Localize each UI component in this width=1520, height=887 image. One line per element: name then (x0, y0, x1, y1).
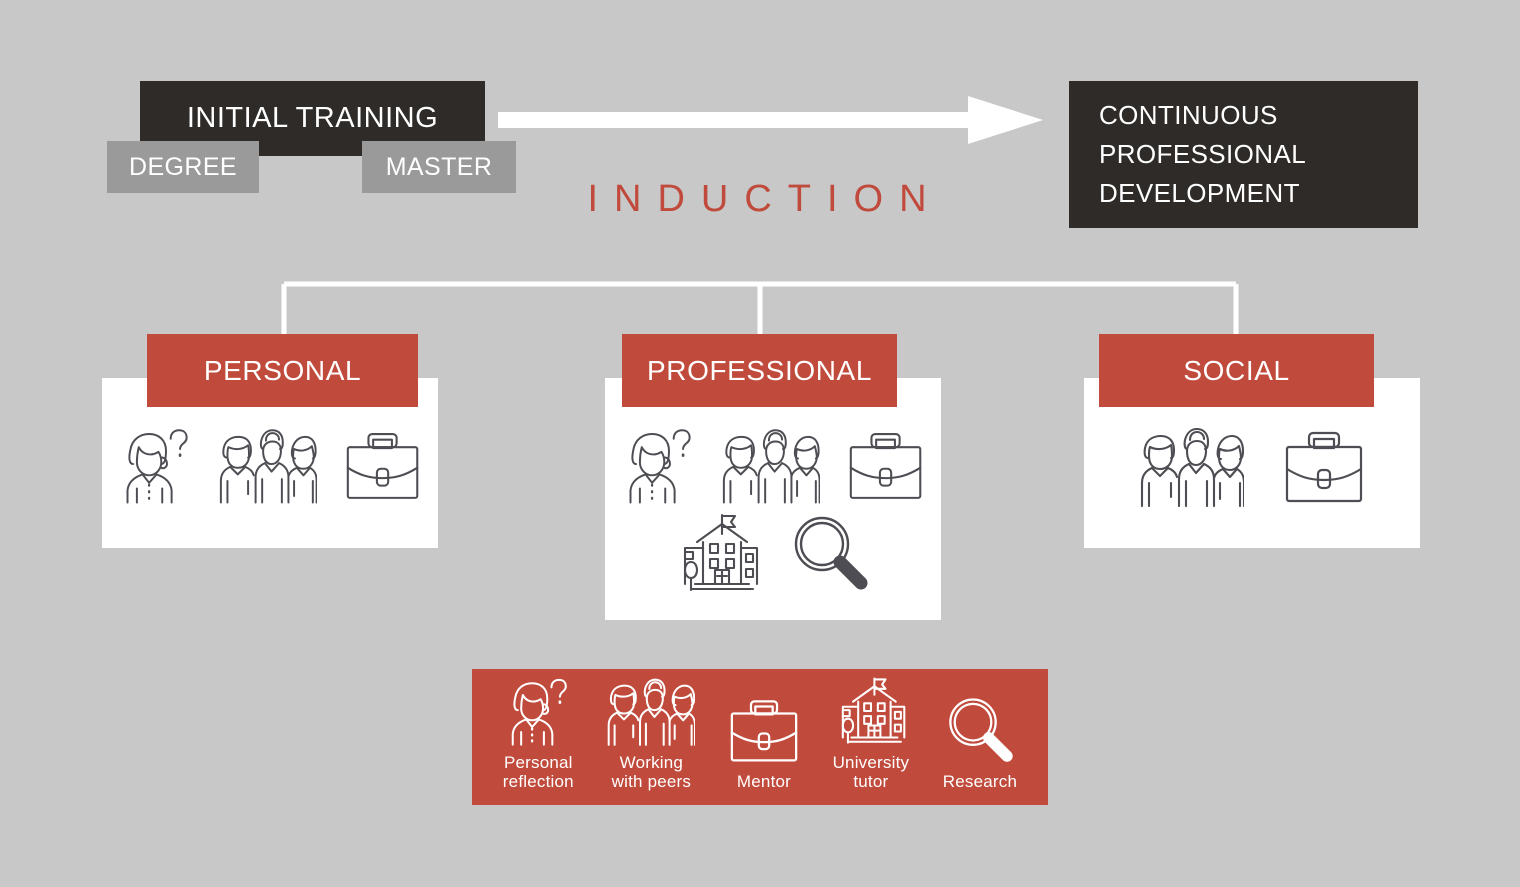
cpd-line-1: CONTINUOUS (1099, 96, 1306, 135)
personal-reflection-icon (506, 675, 570, 747)
social-card-header: SOCIAL (1099, 334, 1374, 407)
cpd-line-2: PROFESSIONAL (1099, 135, 1306, 174)
personal-title: PERSONAL (204, 355, 361, 387)
personal-card-header: PERSONAL (147, 334, 418, 407)
professional-card-header: PROFESSIONAL (622, 334, 897, 407)
right-arrow-icon (498, 96, 1043, 144)
university-tutor-icon (675, 512, 761, 594)
mentor-icon (1284, 428, 1364, 504)
legend-label: Personal reflection (503, 753, 574, 791)
social-icon-row (1140, 430, 1380, 502)
master-label: MASTER (386, 153, 493, 182)
initial-training-label: INITIAL TRAINING (187, 102, 438, 135)
legend-item-research: Research (943, 694, 1017, 791)
working-with-peers-icon (219, 424, 317, 506)
research-icon (946, 694, 1014, 766)
personal-icon-row (120, 424, 420, 506)
legend-item-university-tutor: University tutor (833, 675, 910, 791)
working-with-peers-icon (1140, 425, 1244, 507)
personal-reflection-icon (623, 424, 694, 506)
legend-label: University tutor (833, 753, 910, 791)
legend-label: Working with peers (612, 753, 691, 791)
university-tutor-icon (834, 675, 908, 747)
degree-box: DEGREE (107, 141, 259, 193)
working-with-peers-icon (722, 424, 820, 506)
mentor-icon (729, 694, 799, 766)
legend-item-personal-reflection: Personal reflection (503, 675, 574, 791)
cpd-line-3: DEVELOPMENT (1099, 174, 1306, 213)
legend-bar: Personal reflection (472, 669, 1048, 805)
professional-icon-row-1 (623, 424, 923, 506)
legend-item-mentor: Mentor (729, 694, 799, 791)
legend-item-working-with-peers: Working with peers (607, 675, 695, 791)
mentor-icon (848, 427, 923, 503)
professional-title: PROFESSIONAL (647, 355, 872, 387)
legend-label: Research (943, 772, 1017, 791)
master-box: MASTER (362, 141, 516, 193)
professional-icon-row-2 (675, 512, 875, 594)
induction-label: INDUCTION (540, 178, 990, 221)
legend-label: Mentor (737, 772, 791, 791)
social-title: SOCIAL (1183, 355, 1289, 387)
mentor-icon (345, 427, 420, 503)
research-icon (791, 514, 869, 592)
degree-label: DEGREE (129, 153, 237, 182)
continuous-professional-development-box: CONTINUOUS PROFESSIONAL DEVELOPMENT (1069, 81, 1418, 228)
personal-reflection-icon (120, 424, 191, 506)
working-with-peers-icon (607, 675, 695, 747)
diagram-canvas: INITIAL TRAINING DEGREE MASTER CONTINUOU… (0, 0, 1520, 887)
